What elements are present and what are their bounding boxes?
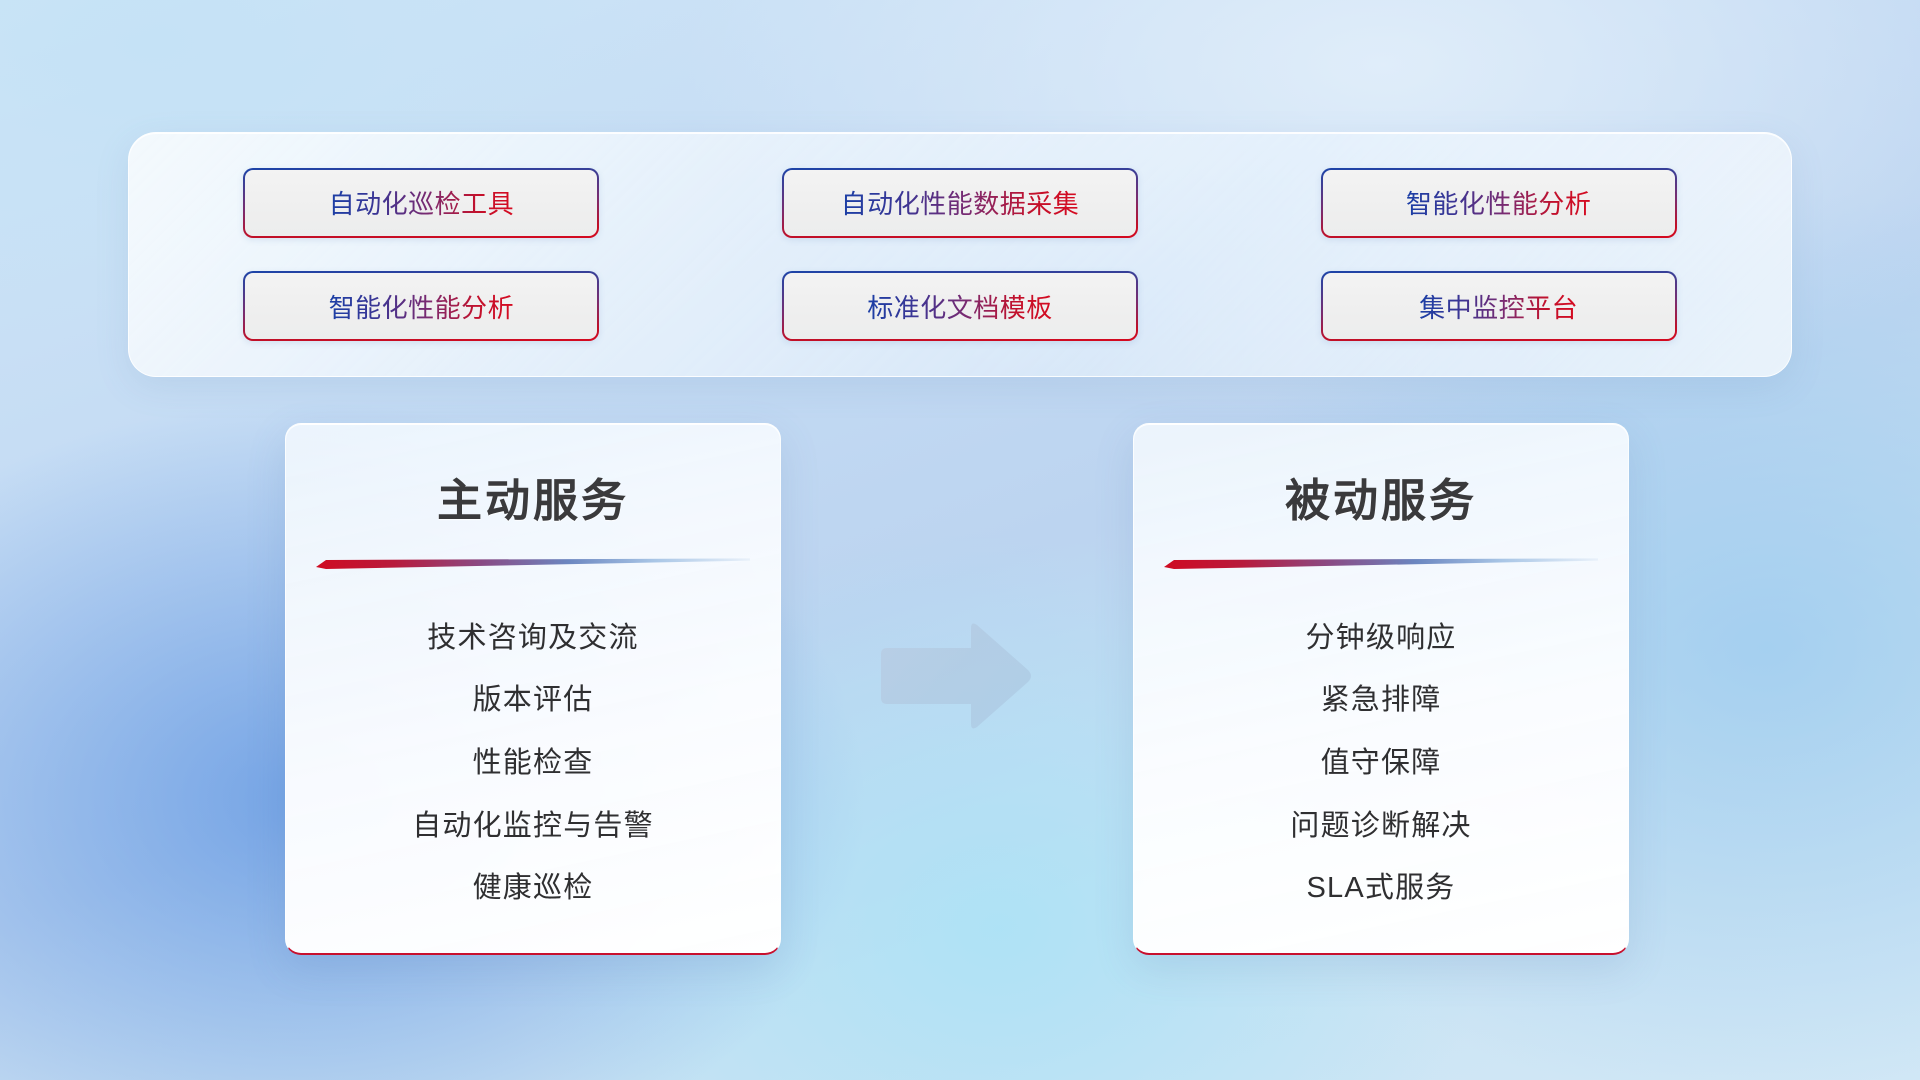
capability-pill-surface: 标准化文档模板 xyxy=(784,273,1136,339)
list-item: 性能检查 xyxy=(473,739,594,781)
capability-pill[interactable]: 自动化巡检工具 xyxy=(243,168,599,238)
list-item: 值守保障 xyxy=(1321,739,1442,781)
capability-pill-label: 标准化文档模板 xyxy=(867,288,1053,325)
capability-pill-label: 智能化性能分析 xyxy=(329,288,515,325)
capability-pill-label: 智能化性能分析 xyxy=(1406,184,1592,221)
capability-pill-label: 自动化巡检工具 xyxy=(329,184,515,221)
capability-pill-surface: 自动化性能数据采集 xyxy=(784,170,1136,236)
proactive-service-card[interactable]: 主动服务 技术咨询及交流 版本评估 性能检查 xyxy=(285,423,781,955)
capability-pill-surface: 集中监控平台 xyxy=(1323,273,1675,339)
capability-pill[interactable]: 自动化性能数据采集 xyxy=(782,168,1138,238)
proactive-service-list: 技术咨询及交流 版本评估 性能检查 自动化监控与告警 健康巡检 xyxy=(308,593,758,927)
list-item: SLA式服务 xyxy=(1306,864,1455,906)
arrow-right-icon xyxy=(875,620,1035,732)
list-item: 自动化监控与告警 xyxy=(412,802,654,844)
card-divider xyxy=(316,555,750,571)
list-item: 分钟级响应 xyxy=(1305,614,1456,656)
reactive-card-title: 被动服务 xyxy=(1285,464,1477,529)
capability-pill-surface: 智能化性能分析 xyxy=(1323,170,1675,236)
capability-pill[interactable]: 智能化性能分析 xyxy=(243,271,599,341)
card-divider xyxy=(1164,555,1598,571)
slide-canvas: 自动化巡检工具 自动化性能数据采集 智能化性能分析 智能化性能分析 标准化文档模… xyxy=(0,0,1920,1080)
capability-panel: 自动化巡检工具 自动化性能数据采集 智能化性能分析 智能化性能分析 标准化文档模… xyxy=(128,132,1792,377)
proactive-card-title: 主动服务 xyxy=(437,464,629,529)
capability-pill[interactable]: 集中监控平台 xyxy=(1321,271,1677,341)
reactive-service-card[interactable]: 被动服务 分钟级响应 紧急排障 值守保障 xyxy=(1133,423,1629,955)
list-item: 健康巡检 xyxy=(473,864,594,906)
capability-pill[interactable]: 标准化文档模板 xyxy=(782,271,1138,341)
capability-pill[interactable]: 智能化性能分析 xyxy=(1321,168,1677,238)
list-item: 技术咨询及交流 xyxy=(427,614,638,656)
capability-pill-surface: 智能化性能分析 xyxy=(245,273,597,339)
capability-pill-label: 自动化性能数据采集 xyxy=(841,184,1080,221)
list-item: 紧急排障 xyxy=(1321,676,1442,718)
reactive-service-list: 分钟级响应 紧急排障 值守保障 问题诊断解决 SLA式服务 xyxy=(1156,593,1606,927)
capability-pill-surface: 自动化巡检工具 xyxy=(245,170,597,236)
capability-pill-label: 集中监控平台 xyxy=(1419,288,1578,325)
list-item: 版本评估 xyxy=(473,676,594,718)
list-item: 问题诊断解决 xyxy=(1290,802,1471,844)
